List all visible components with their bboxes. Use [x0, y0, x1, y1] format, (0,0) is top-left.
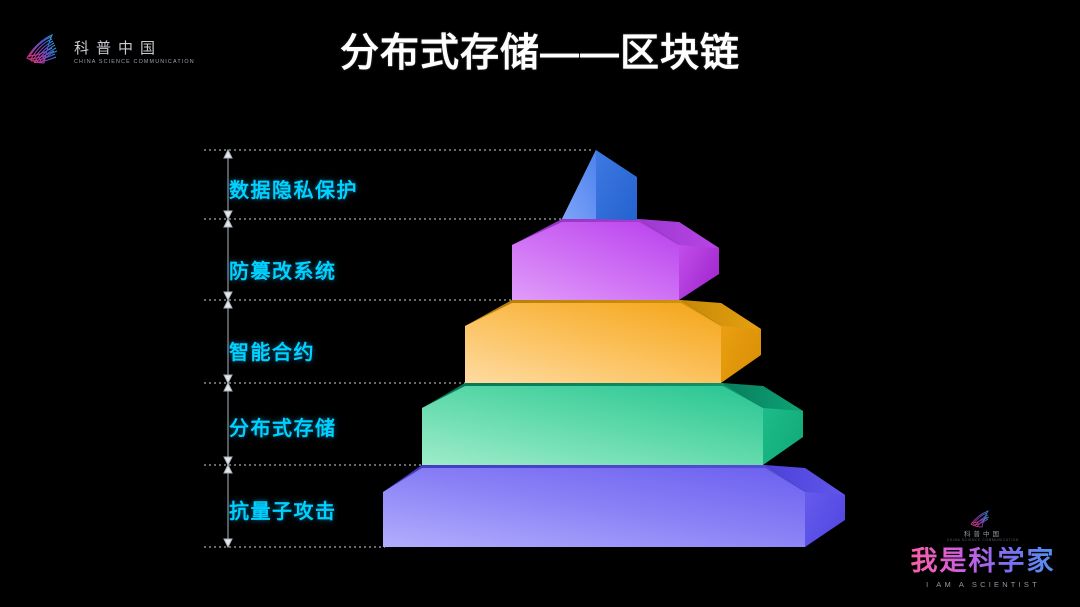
watermark-kepu-cn: 科普中国 — [908, 531, 1058, 538]
tier-label-3: 智能合约 — [229, 336, 315, 365]
watermark-subtitle: I AM A SCIENTIST — [908, 580, 1058, 589]
watermark-title: 我是科学家 — [908, 547, 1058, 577]
pyramid-level-5[interactable] — [383, 465, 845, 547]
pyramid-level-2[interactable] — [512, 219, 719, 300]
watermark-logo: 科普中国 CHINA SCIENCE COMMUNICATION 我是科学家 I… — [908, 508, 1058, 589]
pyramid-level-3[interactable] — [465, 300, 761, 383]
tier-label-5: 抗量子攻击 — [229, 495, 337, 524]
pyramid-level-4[interactable] — [422, 383, 803, 465]
pyramid-level-1[interactable] — [562, 150, 637, 220]
watermark-kepu-en: CHINA SCIENCE COMMUNICATION — [908, 538, 1058, 542]
china-science-communication-wing-icon-small — [968, 508, 998, 530]
tier-label-4: 分布式存储 — [229, 412, 337, 441]
tier-label-1: 数据隐私保护 — [229, 174, 358, 203]
tier-label-2: 防篡改系统 — [229, 255, 337, 284]
